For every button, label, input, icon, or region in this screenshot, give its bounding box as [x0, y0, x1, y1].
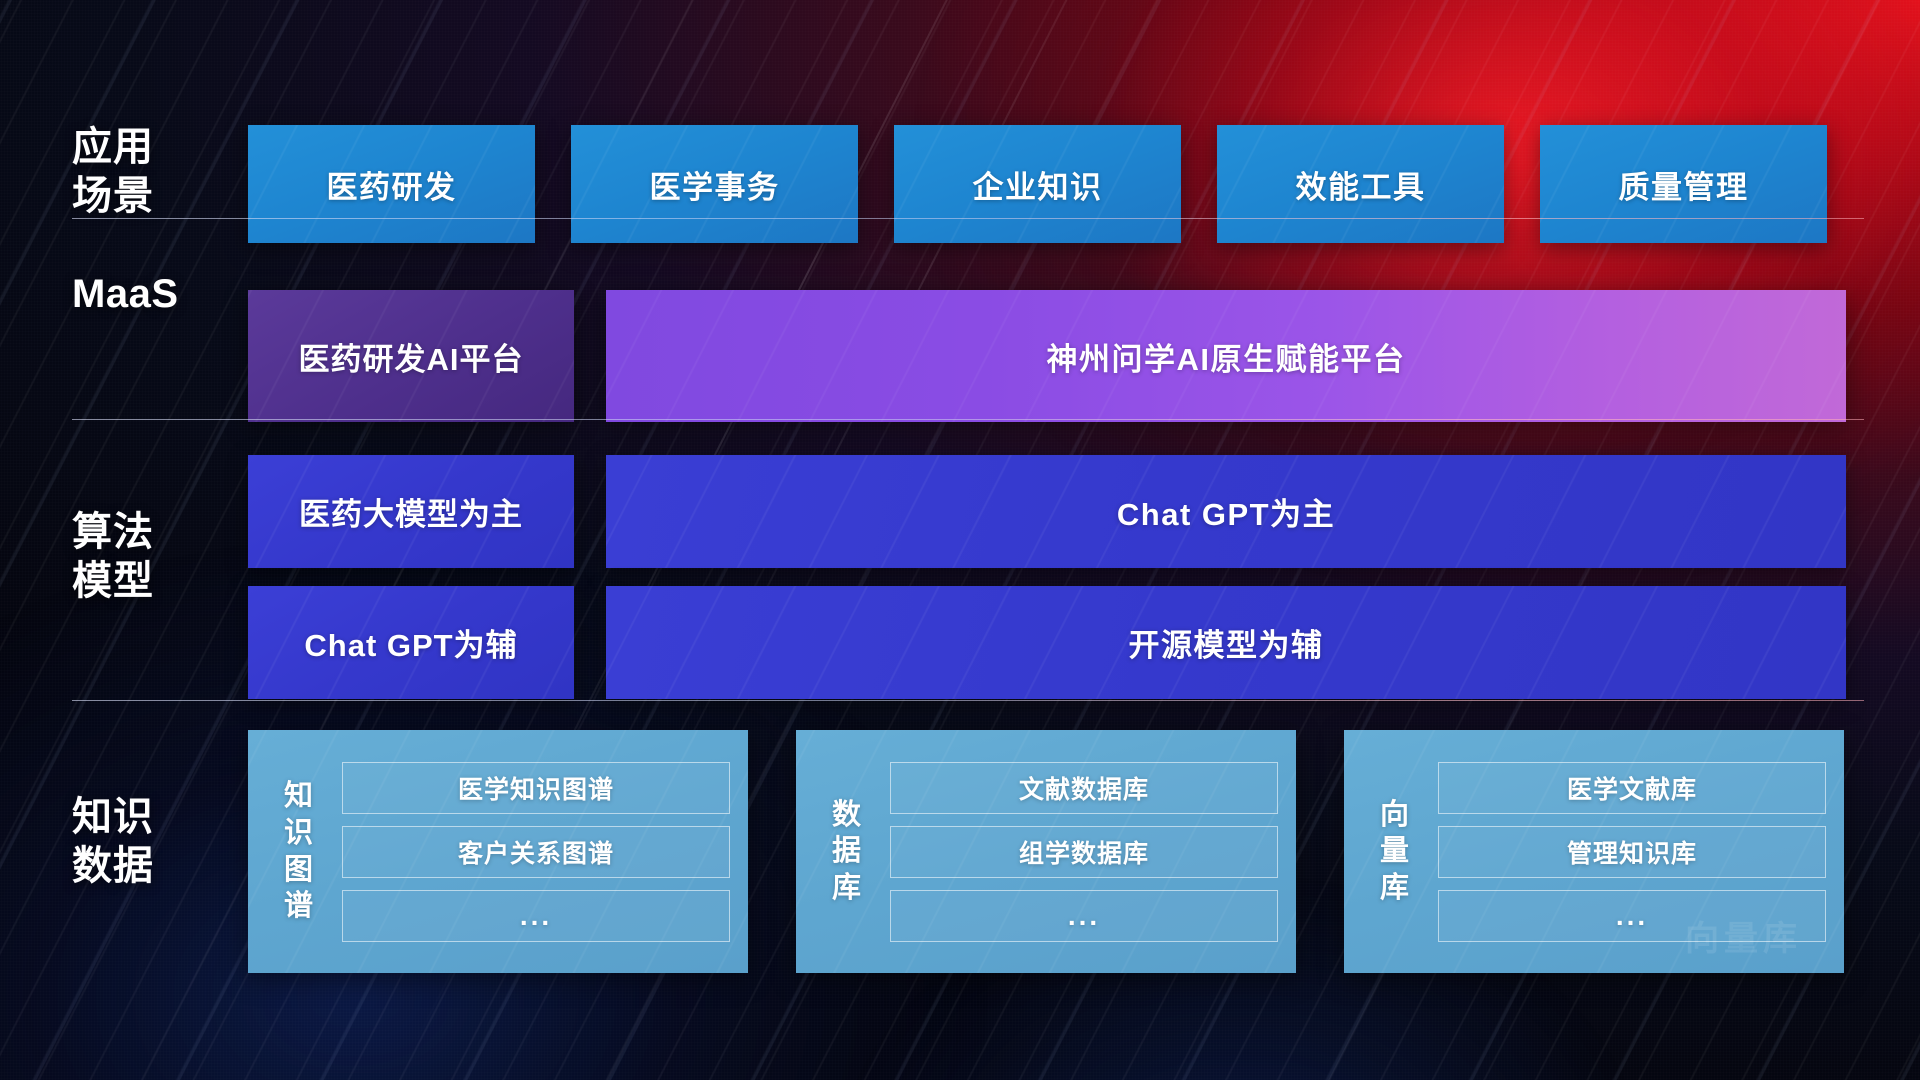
maas-card-medicine-ai-platform[interactable]: 医药研发AI平台: [248, 290, 574, 422]
knowledge-item-more[interactable]: ...: [890, 890, 1278, 942]
knowledge-item-list: 医学知识图谱 客户关系图谱 ...: [342, 762, 730, 942]
algo-left-label: 医药大模型为主: [299, 489, 523, 534]
knowledge-panel-title-vector-store: 向 量 库: [1366, 797, 1424, 907]
title-char: 识: [284, 815, 314, 852]
scenario-label: 医药研发: [327, 162, 457, 207]
row-label-line: 模型: [72, 557, 237, 606]
algorithm-line-primary: 医药大模型为主 Chat GPT为主: [248, 455, 1846, 568]
title-char: 图: [284, 852, 314, 889]
row-label-line: 场景: [72, 172, 237, 221]
row-label-line: 数据: [72, 842, 237, 891]
algorithm-line-secondary: Chat GPT为辅 开源模型为辅: [248, 586, 1846, 699]
row-label-algorithm-model: 算法 模型: [72, 508, 237, 606]
scenario-label: 企业知识: [973, 162, 1103, 207]
algo-left-label: Chat GPT为辅: [304, 620, 517, 665]
knowledge-item[interactable]: 管理知识库: [1438, 826, 1826, 878]
scenario-card-medicine-rd[interactable]: 医药研发: [248, 125, 535, 243]
knowledge-item[interactable]: 客户关系图谱: [342, 826, 730, 878]
scenario-card-medical-affairs[interactable]: 医学事务: [571, 125, 858, 243]
knowledge-panel-vector-store[interactable]: 向 量 库 医学文献库 管理知识库 ...: [1344, 730, 1844, 973]
scenario-label: 效能工具: [1296, 162, 1426, 207]
knowledge-panel-knowledge-graph[interactable]: 知 识 图 谱 医学知识图谱 客户关系图谱 ...: [248, 730, 748, 973]
knowledge-panel-database[interactable]: 数 据 库 文献数据库 组学数据库 ...: [796, 730, 1296, 973]
application-scenario-list: 医药研发 医学事务 企业知识 效能工具 质量管理: [248, 125, 1827, 243]
row-label-line: 算法: [72, 508, 237, 557]
scenario-label: 质量管理: [1619, 162, 1749, 207]
knowledge-panel-title-database: 数 据 库: [818, 797, 876, 907]
scenario-label: 医学事务: [650, 162, 780, 207]
knowledge-item[interactable]: 组学数据库: [890, 826, 1278, 878]
algo-right-label: 开源模型为辅: [1129, 620, 1324, 665]
algo-card-opensource-secondary[interactable]: 开源模型为辅: [606, 586, 1846, 699]
title-char: 库: [832, 870, 862, 907]
knowledge-item-list: 文献数据库 组学数据库 ...: [890, 762, 1278, 942]
row-label-application-scenarios: 应用 场景: [72, 123, 237, 221]
maas-left-label: 医药研发AI平台: [299, 334, 524, 379]
divider-row2: [72, 419, 1864, 420]
row-label-maas: MaaS: [72, 270, 237, 319]
algo-right-label: Chat GPT为主: [1117, 489, 1335, 534]
scenario-card-quality-management[interactable]: 质量管理: [1540, 125, 1827, 243]
maas-row: 医药研发AI平台 神州问学AI原生赋能平台: [248, 290, 1846, 422]
divider-row1: [72, 218, 1864, 219]
knowledge-panel-list: 知 识 图 谱 医学知识图谱 客户关系图谱 ... 数 据 库 文献数据库 组学…: [248, 730, 1844, 973]
knowledge-item-list: 医学文献库 管理知识库 ...: [1438, 762, 1826, 942]
title-char: 据: [832, 833, 862, 870]
algo-card-chatgpt-primary[interactable]: Chat GPT为主: [606, 455, 1846, 568]
algorithm-model-row: 医药大模型为主 Chat GPT为主 Chat GPT为辅 开源模型为辅: [248, 455, 1846, 699]
maas-card-shenzhou-wenxue-platform[interactable]: 神州问学AI原生赋能平台: [606, 290, 1846, 422]
knowledge-item-more[interactable]: ...: [342, 890, 730, 942]
row-label-line: 知识: [72, 793, 237, 842]
title-char: 向: [1380, 797, 1410, 834]
knowledge-item-more[interactable]: ...: [1438, 890, 1826, 942]
row-label-knowledge-data: 知识 数据: [72, 793, 237, 891]
row-label-line: 应用: [72, 123, 237, 172]
title-char: 数: [832, 797, 862, 834]
maas-right-label: 神州问学AI原生赋能平台: [1047, 334, 1406, 379]
divider-row3: [72, 700, 1864, 701]
knowledge-item[interactable]: 医学文献库: [1438, 762, 1826, 814]
scenario-card-efficiency-tools[interactable]: 效能工具: [1217, 125, 1504, 243]
knowledge-item[interactable]: 医学知识图谱: [342, 762, 730, 814]
title-char: 量: [1380, 833, 1410, 870]
title-char: 库: [1380, 870, 1410, 907]
knowledge-item[interactable]: 文献数据库: [890, 762, 1278, 814]
title-char: 谱: [284, 888, 314, 925]
algo-card-medicine-llm-primary[interactable]: 医药大模型为主: [248, 455, 574, 568]
title-char: 知: [284, 778, 314, 815]
knowledge-panel-title-knowledge-graph: 知 识 图 谱: [270, 778, 328, 924]
scenario-card-enterprise-knowledge[interactable]: 企业知识: [894, 125, 1181, 243]
algo-card-chatgpt-secondary[interactable]: Chat GPT为辅: [248, 586, 574, 699]
